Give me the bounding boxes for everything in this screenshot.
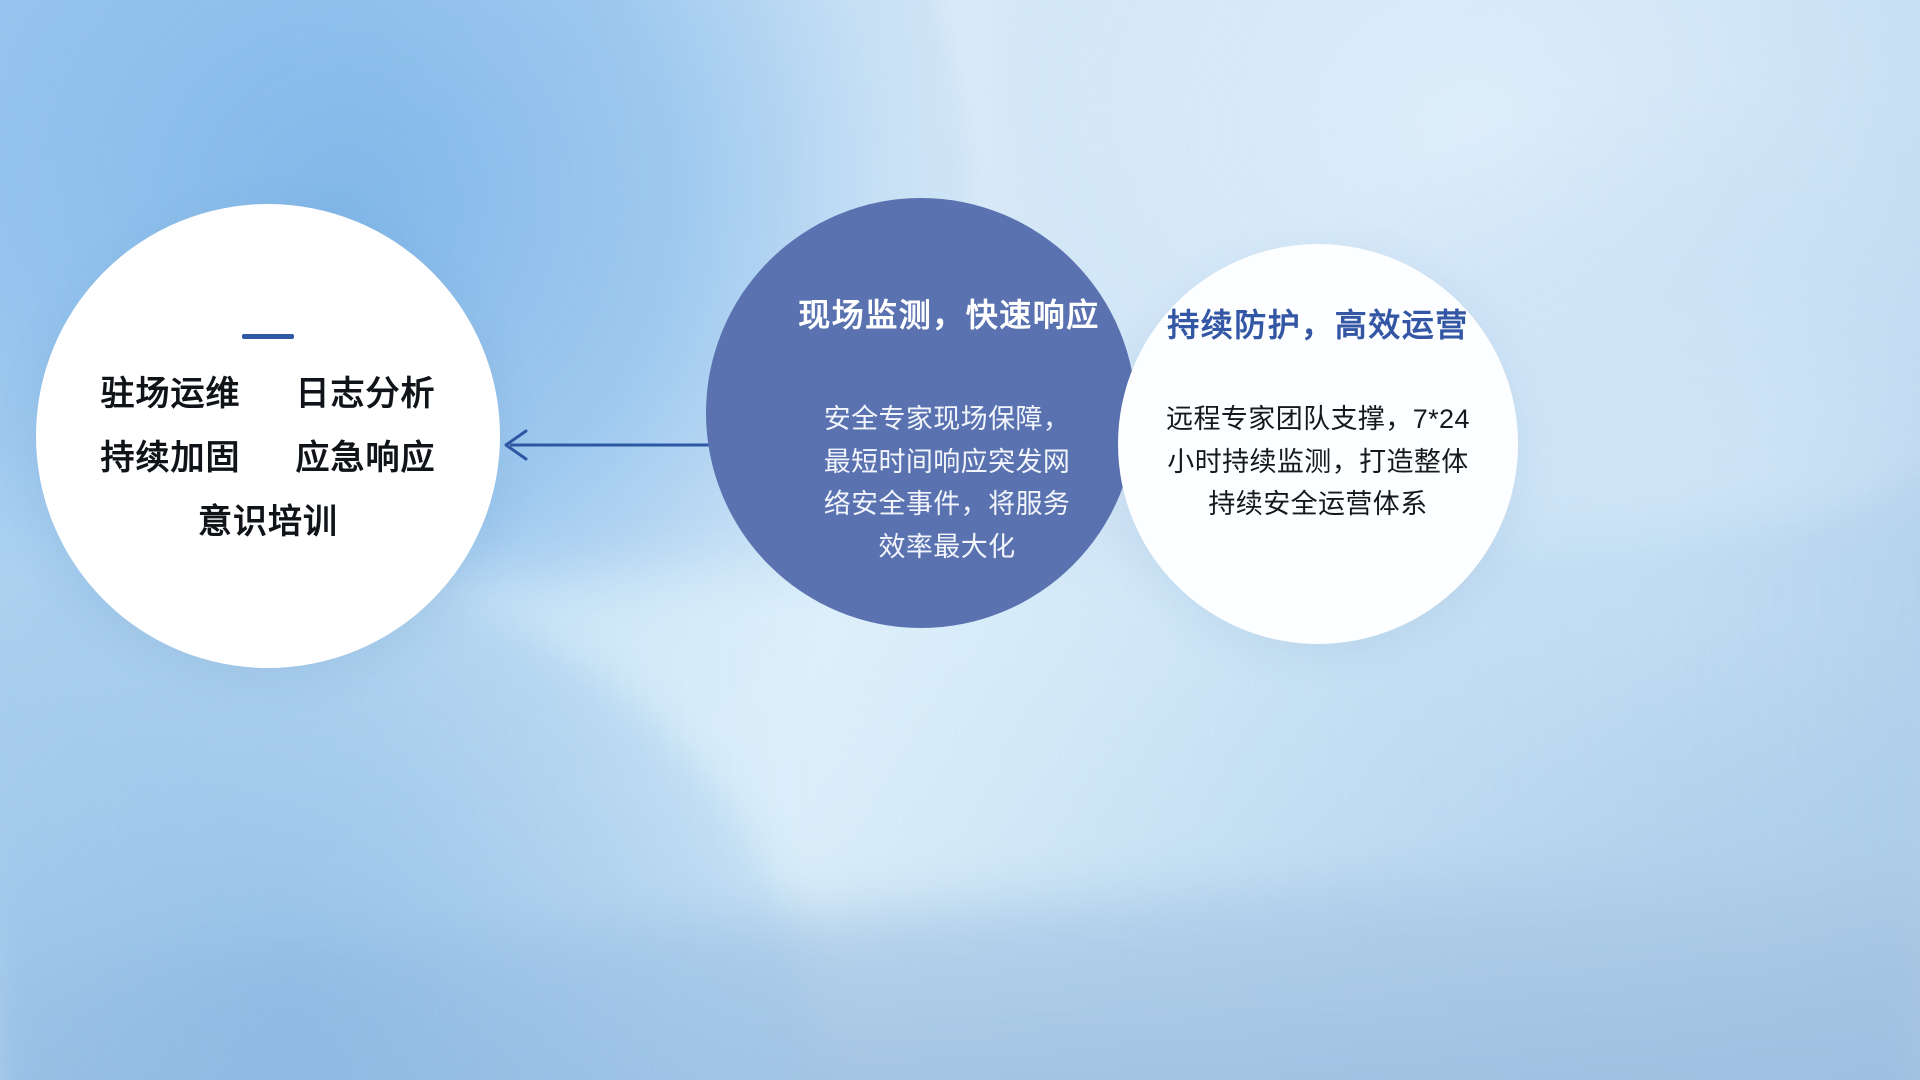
body-line: 最短时间响应突发网 — [797, 441, 1097, 484]
capabilities-circle[interactable]: 驻场运维 日志分析 持续加固 应急响应 意识培训 — [36, 204, 500, 668]
capability-row: 意识培训 — [101, 505, 436, 539]
continuous-protection-title: 持续防护，高效运营 — [1167, 300, 1469, 346]
capability-keyword: 应急响应 — [295, 439, 435, 477]
capability-keyword: 日志分析 — [295, 375, 435, 413]
continuous-protection-body: 远程专家团队支撑，7*24 小时持续监测，打造整体 持续安全运营体系 — [1138, 398, 1498, 526]
title-divider-rule — [242, 334, 294, 339]
capability-keyword: 意识培训 — [198, 503, 338, 541]
capability-row: 持续加固 应急响应 — [101, 441, 436, 475]
body-line: 持续安全运营体系 — [1138, 483, 1498, 526]
body-line: 小时持续监测，打造整体 — [1138, 441, 1498, 484]
onsite-monitoring-body: 安全专家现场保障， 最短时间响应突发网 络安全事件，将服务 效率最大化 — [797, 398, 1097, 569]
capability-keyword: 持续加固 — [101, 439, 241, 477]
onsite-monitoring-title: 现场监测，快速响应 — [798, 290, 1100, 336]
slide-canvas: 驻场运维 日志分析 持续加固 应急响应 意识培训 现场监测，快速响应 安全专家现… — [0, 0, 1920, 1080]
continuous-protection-circle[interactable]: 持续防护，高效运营 远程专家团队支撑，7*24 小时持续监测，打造整体 持续安全… — [1118, 244, 1518, 644]
capability-keyword-list: 驻场运维 日志分析 持续加固 应急响应 意识培训 — [101, 377, 436, 539]
body-line: 络安全事件，将服务 — [797, 483, 1097, 526]
body-line: 远程专家团队支撑，7*24 — [1138, 398, 1498, 441]
body-line: 安全专家现场保障， — [797, 398, 1097, 441]
onsite-monitoring-circle[interactable]: 现场监测，快速响应 安全专家现场保障， 最短时间响应突发网 络安全事件，将服务 … — [706, 198, 1136, 628]
capability-row: 驻场运维 日志分析 — [101, 377, 436, 411]
body-line: 效率最大化 — [797, 526, 1097, 569]
capability-keyword: 驻场运维 — [101, 375, 241, 413]
